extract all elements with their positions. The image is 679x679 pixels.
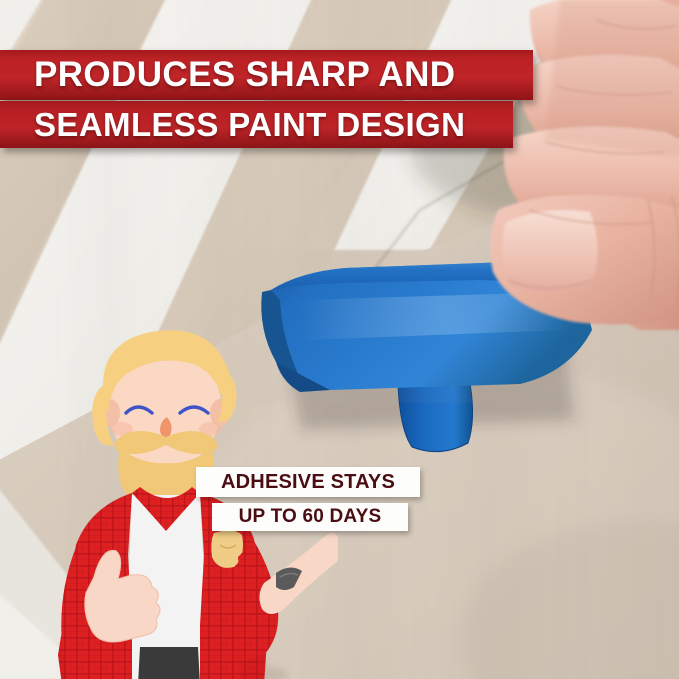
- headline-banner-line1: PRODUCES SHARP AND: [0, 50, 533, 100]
- callout-text-line1: ADHESIVE STAYS: [221, 471, 395, 494]
- headline-text-line2: SEAMLESS PAINT DESIGN: [34, 106, 465, 144]
- shield-patch-icon: [211, 530, 243, 567]
- headline-text-line1: PRODUCES SHARP AND: [34, 55, 455, 95]
- mascot-character: [28, 325, 338, 679]
- callout-badge-line1: ADHESIVE STAYS: [196, 467, 420, 497]
- callout-badge-line2: UP TO 60 DAYS: [212, 503, 408, 531]
- trousers: [138, 647, 200, 679]
- headline-banner-line2: SEAMLESS PAINT DESIGN: [0, 101, 513, 148]
- callout-text-line2: UP TO 60 DAYS: [239, 506, 382, 528]
- product-image-canvas: PRODUCES SHARP AND SEAMLESS PAINT DESIGN…: [0, 0, 679, 679]
